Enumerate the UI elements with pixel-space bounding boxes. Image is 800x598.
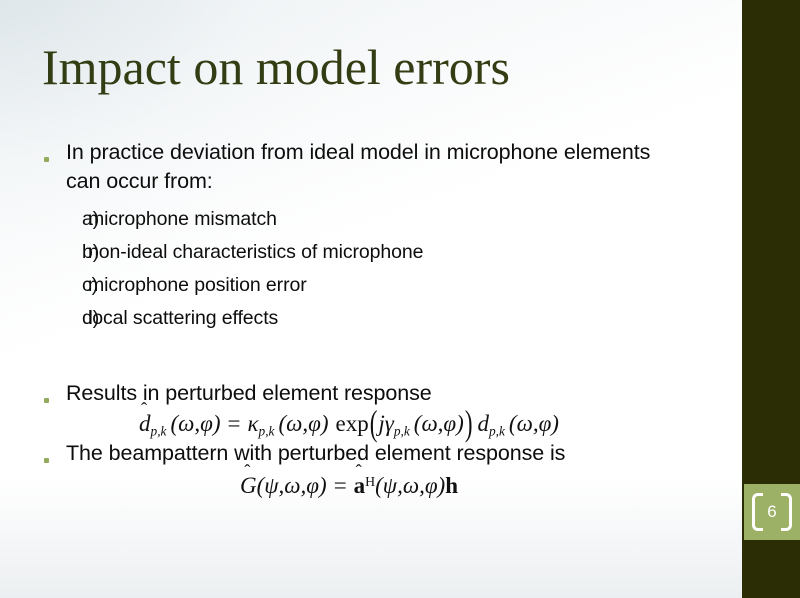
hat-accent-icon: ˆ xyxy=(244,462,250,480)
eq2-h-vector: h xyxy=(445,473,458,498)
eq2-args-1: (ψ,ω,φ) xyxy=(257,473,327,498)
list-item: c) microphone position error xyxy=(44,269,684,302)
list-item-label: non-ideal characteristics of microphone xyxy=(88,236,684,269)
status-badge: 6 xyxy=(744,484,800,540)
sub-list: a) microphone mismatch b) non-ideal char… xyxy=(44,203,684,335)
eq1-gamma: γ xyxy=(385,411,394,436)
eq1-subscript-2: p,k xyxy=(259,423,275,438)
bullet-dot-icon xyxy=(44,138,66,167)
eq2-equals: = xyxy=(334,473,347,498)
list-item: a) microphone mismatch xyxy=(44,203,684,236)
page-title: Impact on model errors xyxy=(42,38,702,96)
list-item: d) local scattering effects xyxy=(44,302,684,335)
list-item-label: local scattering effects xyxy=(88,302,684,335)
list-item-marker: a) xyxy=(44,203,88,236)
eq1-d: d xyxy=(478,411,490,436)
bullet-item-1: In practice deviation from ideal model i… xyxy=(44,138,684,196)
list-item-label: microphone position error xyxy=(88,269,684,302)
slide-body: In practice deviation from ideal model i… xyxy=(44,138,684,499)
eq1-args-3: (ω,φ) xyxy=(414,411,464,436)
eq1-subscript-1: p,k xyxy=(151,423,167,438)
bullet-dot-icon xyxy=(44,439,66,468)
eq1-kappa: κ xyxy=(247,411,258,436)
list-item-marker: c) xyxy=(44,269,88,302)
eq2-args-2: (ψ,ω,φ) xyxy=(375,473,445,498)
bullet-item-2: Results in perturbed element response xyxy=(44,379,684,408)
equation-perturbed-beampattern: ˆG(ψ,ω,φ)=ˆaH(ψ,ω,φ)h xyxy=(14,473,684,499)
bullet-item-1-text: In practice deviation from ideal model i… xyxy=(66,138,684,196)
equation-perturbed-element-response: ˆdp,k(ω,φ)=κp,k(ω,φ)exp(jγp,k(ω,φ))dp,k(… xyxy=(14,411,684,439)
bullet-item-3: The beampattern with perturbed element r… xyxy=(44,439,684,468)
eq2-superscript-H: H xyxy=(365,475,375,490)
eq1-subscript-4: p,k xyxy=(489,423,505,438)
eq1-paren-close: ) xyxy=(465,404,473,444)
spacer xyxy=(44,335,684,379)
list-item-marker: d) xyxy=(44,302,88,335)
bullet-dot-icon xyxy=(44,379,66,408)
eq1-args-4: (ω,φ) xyxy=(509,411,559,436)
eq1-args-2: (ω,φ) xyxy=(278,411,328,436)
hat-accent-icon: ˆ xyxy=(356,462,362,480)
hat-accent-icon: ˆ xyxy=(141,400,147,418)
eq1-args-1: (ω,φ) xyxy=(170,411,220,436)
eq1-exp: exp xyxy=(336,411,369,436)
page-number: 6 xyxy=(744,484,800,540)
eq1-paren-open: ( xyxy=(370,404,378,444)
eq1-subscript-3: p,k xyxy=(394,423,410,438)
list-item: b) non-ideal characteristics of micropho… xyxy=(44,236,684,269)
list-item-marker: b) xyxy=(44,236,88,269)
slide-canvas: Impact on model errors In practice devia… xyxy=(0,0,800,598)
eq1-equals: = xyxy=(228,411,241,436)
list-item-label: microphone mismatch xyxy=(88,203,684,236)
